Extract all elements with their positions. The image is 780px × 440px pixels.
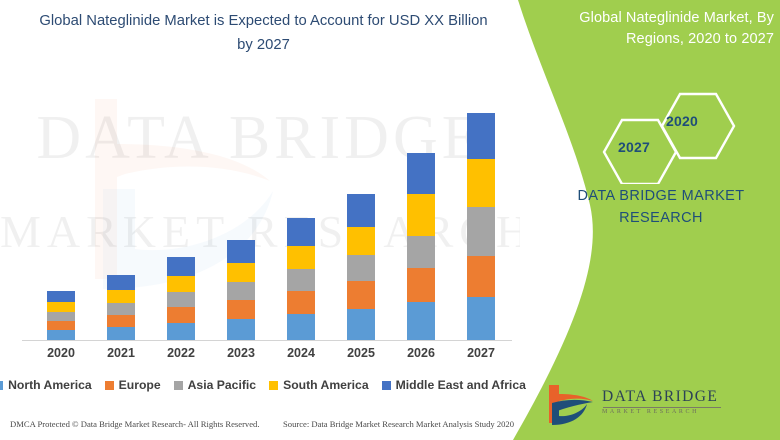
bar-segment: [47, 291, 75, 302]
legend-label: Middle East and Africa: [396, 378, 526, 392]
bar-column: [407, 153, 435, 340]
bar-segment: [227, 263, 255, 282]
hexagon-outlines-icon: [586, 84, 776, 184]
legend-item: Asia Pacific: [174, 378, 256, 392]
panel-title: Global Nateglinide Market, By Regions, 2…: [552, 8, 774, 50]
bar-segment: [227, 300, 255, 319]
hex-badge-2020: 2020: [666, 113, 698, 129]
legend-swatch-icon: [0, 381, 3, 390]
bar-column: [107, 275, 135, 340]
legend-item: North America: [0, 378, 92, 392]
logo-wordmark: DATA BRIDGE MARKET RESEARCH: [602, 388, 721, 415]
infographic-root: Global Nateglinide Market, By Regions, 2…: [0, 0, 780, 440]
x-axis-line: [22, 340, 512, 341]
bar-column: [167, 257, 195, 340]
logo-tagline: MARKET RESEARCH: [602, 409, 721, 415]
x-axis-label: 2025: [331, 346, 391, 360]
data-bridge-logo: DATA BRIDGE MARKET RESEARCH: [540, 383, 770, 431]
bar-segment: [467, 207, 495, 256]
copyright-note: DMCA Protected © Data Bridge Market Rese…: [10, 419, 260, 429]
bar-segment: [407, 268, 435, 302]
bar-segment: [287, 314, 315, 340]
bar-segment: [47, 321, 75, 330]
bar-segment: [227, 240, 255, 263]
bar-segment: [167, 307, 195, 323]
bar-segment: [167, 276, 195, 292]
bar-segment: [287, 291, 315, 314]
legend-label: North America: [8, 378, 92, 392]
x-axis-label: 2020: [31, 346, 91, 360]
bar-segment: [347, 281, 375, 309]
bar-column: [467, 113, 495, 340]
bar-segment: [287, 246, 315, 269]
bar-segment: [347, 255, 375, 281]
bar-segment: [467, 159, 495, 207]
bar-column: [287, 218, 315, 340]
stacked-bar-chart: 20202021202220232024202520262027: [0, 0, 520, 400]
x-axis-label: 2027: [451, 346, 511, 360]
bar-segment: [347, 194, 375, 227]
bar-segment: [107, 303, 135, 315]
bar-column: [47, 291, 75, 340]
bar-segment: [47, 330, 75, 340]
bar-column: [227, 240, 255, 340]
hexagon-badges: 2020 2027: [586, 84, 776, 184]
bar-column: [347, 194, 375, 340]
bar-segment: [407, 302, 435, 340]
legend-item: Middle East and Africa: [382, 378, 526, 392]
bar-segment: [407, 194, 435, 236]
bar-segment: [167, 292, 195, 307]
legend-label: Europe: [119, 378, 161, 392]
legend-item: Europe: [105, 378, 161, 392]
bar-segment: [407, 153, 435, 194]
chart-legend: North AmericaEuropeAsia PacificSouth Ame…: [0, 374, 520, 396]
bar-segment: [467, 113, 495, 159]
bar-segment: [227, 282, 255, 300]
bar-segment: [407, 236, 435, 268]
bar-segment: [167, 323, 195, 340]
x-axis-label: 2021: [91, 346, 151, 360]
bar-segment: [227, 319, 255, 340]
bar-segment: [467, 256, 495, 297]
x-axis-label: 2023: [211, 346, 271, 360]
x-axis-label: 2026: [391, 346, 451, 360]
bar-segment: [107, 275, 135, 290]
legend-swatch-icon: [174, 381, 183, 390]
x-axis-label: 2024: [271, 346, 331, 360]
legend-item: South America: [269, 378, 369, 392]
bar-segment: [287, 269, 315, 291]
panel-brand-text: DATA BRIDGE MARKET RESEARCH: [548, 186, 774, 230]
source-note: Source: Data Bridge Market Research Mark…: [283, 419, 514, 429]
bar-segment: [347, 227, 375, 255]
bar-segment: [47, 312, 75, 321]
logo-name: DATA BRIDGE: [602, 388, 721, 406]
legend-swatch-icon: [105, 381, 114, 390]
legend-swatch-icon: [269, 381, 278, 390]
bar-segment: [467, 297, 495, 340]
legend-swatch-icon: [382, 381, 391, 390]
x-axis-label: 2022: [151, 346, 211, 360]
bar-segment: [167, 257, 195, 276]
hex-badge-2027: 2027: [618, 139, 650, 155]
b-swoosh-logo-icon: [540, 383, 598, 429]
logo-divider: [603, 407, 721, 408]
bar-segment: [347, 309, 375, 340]
bar-segment: [107, 290, 135, 303]
bar-segment: [107, 315, 135, 327]
bar-segment: [47, 302, 75, 312]
bar-segment: [107, 327, 135, 340]
legend-label: Asia Pacific: [188, 378, 256, 392]
legend-label: South America: [283, 378, 369, 392]
bar-segment: [287, 218, 315, 246]
